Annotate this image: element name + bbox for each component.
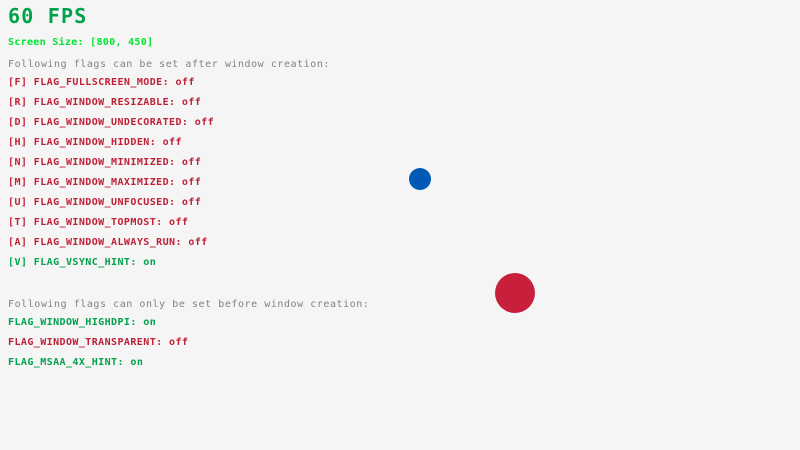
flag-row-flag-window-topmost[interactable]: [T] FLAG_WINDOW_TOPMOST: off (8, 218, 188, 228)
flag-name: FLAG_WINDOW_ALWAYS_RUN: (34, 237, 182, 248)
flag-value: off (163, 337, 189, 348)
flag-name: FLAG_WINDOW_MAXIMIZED: (34, 177, 176, 188)
flag-row-flag-window-minimized[interactable]: [N] FLAG_WINDOW_MINIMIZED: off (8, 158, 201, 168)
flag-shortcut-key: [D] (8, 117, 34, 128)
flag-name: FLAG_WINDOW_UNDECORATED: (34, 117, 189, 128)
flag-shortcut-key: [T] (8, 217, 34, 228)
flag-value: off (175, 157, 201, 168)
flag-name: FLAG_MSAA_4X_HINT: (8, 357, 124, 368)
flag-row-flag-window-transparent[interactable]: FLAG_WINDOW_TRANSPARENT: off (8, 338, 188, 348)
flag-value: off (188, 117, 214, 128)
flag-value: on (137, 257, 156, 268)
flag-row-flag-fullscreen-mode[interactable]: [F] FLAG_FULLSCREEN_MODE: off (8, 78, 195, 88)
flag-name: FLAG_WINDOW_TOPMOST: (34, 217, 163, 228)
flag-row-flag-window-maximized[interactable]: [M] FLAG_WINDOW_MAXIMIZED: off (8, 178, 201, 188)
flag-value: off (175, 177, 201, 188)
flag-row-flag-window-undecorated[interactable]: [D] FLAG_WINDOW_UNDECORATED: off (8, 118, 214, 128)
flag-name: FLAG_FULLSCREEN_MODE: (34, 77, 169, 88)
screen-size-label: Screen Size: [800, 450] (8, 38, 153, 48)
section-header-before-creation: Following flags can only be set before w… (8, 300, 369, 310)
flag-value: on (124, 357, 143, 368)
flag-name: FLAG_WINDOW_TRANSPARENT: (8, 337, 163, 348)
flag-shortcut-key: [F] (8, 77, 34, 88)
flag-row-flag-msaa-4x-hint[interactable]: FLAG_MSAA_4X_HINT: on (8, 358, 143, 368)
flag-shortcut-key: [U] (8, 197, 34, 208)
flag-value: off (163, 217, 189, 228)
flag-value: off (175, 197, 201, 208)
red-ball-shape (495, 273, 535, 313)
section-header-after-creation: Following flags can be set after window … (8, 60, 330, 70)
flag-row-flag-window-resizable[interactable]: [R] FLAG_WINDOW_RESIZABLE: off (8, 98, 201, 108)
flag-shortcut-key: [R] (8, 97, 34, 108)
flag-value: on (137, 317, 156, 328)
flag-shortcut-key: [H] (8, 137, 34, 148)
flag-shortcut-key: [M] (8, 177, 34, 188)
flag-value: off (169, 77, 195, 88)
flag-value: off (175, 97, 201, 108)
flag-name: FLAG_WINDOW_RESIZABLE: (34, 97, 176, 108)
flag-shortcut-key: [V] (8, 257, 34, 268)
fps-counter: 60 FPS (8, 6, 87, 26)
flag-name: FLAG_WINDOW_HIGHDPI: (8, 317, 137, 328)
flag-name: FLAG_VSYNC_HINT: (34, 257, 137, 268)
flag-row-flag-window-highdpi[interactable]: FLAG_WINDOW_HIGHDPI: on (8, 318, 156, 328)
flag-shortcut-key: [N] (8, 157, 34, 168)
flag-value: off (182, 237, 208, 248)
flag-name: FLAG_WINDOW_UNFOCUSED: (34, 197, 176, 208)
flag-row-flag-window-unfocused[interactable]: [U] FLAG_WINDOW_UNFOCUSED: off (8, 198, 201, 208)
flag-row-flag-window-hidden[interactable]: [H] FLAG_WINDOW_HIDDEN: off (8, 138, 182, 148)
flag-shortcut-key: [A] (8, 237, 34, 248)
flag-value: off (156, 137, 182, 148)
flag-row-flag-vsync-hint[interactable]: [V] FLAG_VSYNC_HINT: on (8, 258, 156, 268)
flag-name: FLAG_WINDOW_HIDDEN: (34, 137, 156, 148)
raylib-canvas[interactable]: 60 FPS Screen Size: [800, 450] Following… (0, 0, 800, 450)
flag-row-flag-window-always-run[interactable]: [A] FLAG_WINDOW_ALWAYS_RUN: off (8, 238, 208, 248)
blue-ball-shape (409, 168, 431, 190)
flag-name: FLAG_WINDOW_MINIMIZED: (34, 157, 176, 168)
